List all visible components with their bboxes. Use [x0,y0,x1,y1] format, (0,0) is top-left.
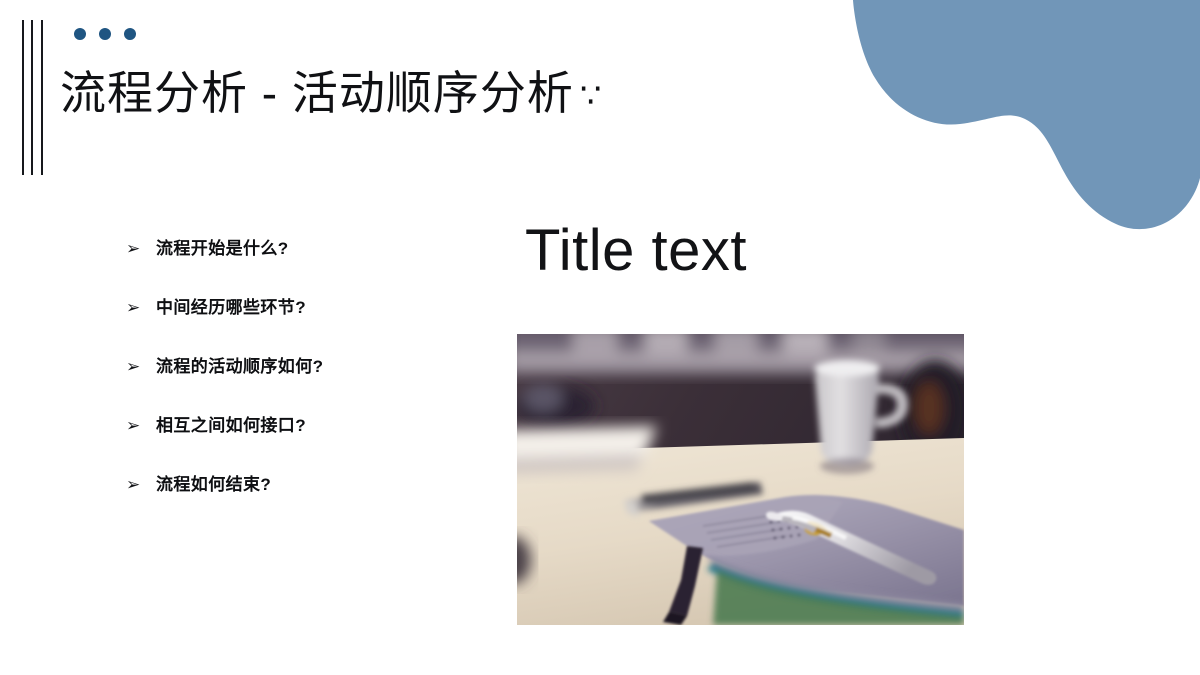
list-item-label: 流程的活动顺序如何? [156,358,323,375]
list-item: ➢ 流程如何结束? [126,476,456,535]
vertical-rule-3 [41,20,43,175]
vertical-rule-2 [31,20,33,175]
arrow-bullet-icon: ➢ [126,300,156,317]
vertical-rule-1 [22,20,24,175]
list-item: ➢ 流程的活动顺序如何? [126,358,456,417]
dot-3 [124,28,136,40]
slide-canvas: 流程分析 - 活动顺序分析∵ ➢ 流程开始是什么? ➢ 中间经历哪些环节? ➢ … [0,0,1200,675]
list-item: ➢ 相互之间如何接口? [126,417,456,476]
dot-2 [99,28,111,40]
page-title-text: 流程分析 - 活动顺序分析 [60,67,574,119]
bullet-list: ➢ 流程开始是什么? ➢ 中间经历哪些环节? ➢ 流程的活动顺序如何? ➢ 相互… [126,240,456,535]
vertical-rule-group [22,20,48,175]
arrow-bullet-icon: ➢ [126,241,156,258]
arrow-bullet-icon: ➢ [126,359,156,376]
list-item: ➢ 中间经历哪些环节? [126,299,456,358]
list-item-label: 相互之间如何接口? [156,417,306,434]
page-title: 流程分析 - 活动顺序分析∵ [60,66,602,120]
content-title: Title text [525,222,747,280]
arrow-bullet-icon: ➢ [126,418,156,435]
dot-group [74,28,136,40]
decorative-blob [820,0,1200,250]
list-item-label: 中间经历哪些环节? [156,299,306,316]
dot-1 [74,28,86,40]
list-item-label: 流程如何结束? [156,476,271,493]
desk-photo [517,334,964,625]
therefore-symbol-icon: ∵ [574,77,602,115]
arrow-bullet-icon: ➢ [126,477,156,494]
list-item: ➢ 流程开始是什么? [126,240,456,299]
list-item-label: 流程开始是什么? [156,240,289,257]
